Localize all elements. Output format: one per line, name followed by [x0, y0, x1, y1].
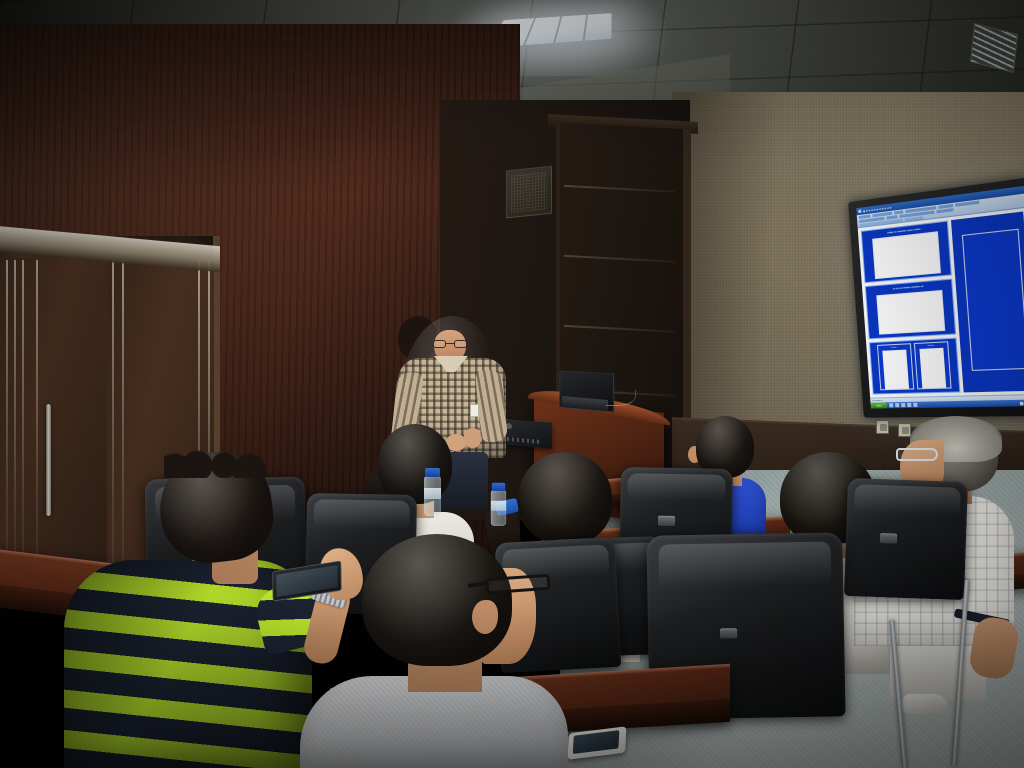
attendee-gray-tshirt: [300, 534, 570, 768]
chair-brand-tag: [720, 628, 737, 638]
display-panel-1-field[interactable]: [872, 232, 941, 279]
presenter-eyeglasses-icon: [433, 340, 467, 348]
display-screen[interactable]: ■ ▾ ▾ ▾ ▾ ▾ ▾ ▾ ▾ ▾ ▾: [856, 186, 1024, 409]
app-icon: [858, 210, 861, 213]
taskbar-icon[interactable]: [913, 403, 917, 407]
attendee-striped-hair: [164, 448, 268, 478]
presenter-name-badge: [470, 404, 479, 417]
display-panel-3[interactable]: ▪▪▪▪▪▪ ▪▪▪▪▪▪▪: [869, 337, 961, 394]
chair-back-right[interactable]: [844, 478, 968, 600]
display-panel-3-cell-left[interactable]: ▪▪▪▪▪▪: [877, 343, 914, 390]
display-panel-2-field[interactable]: [876, 290, 945, 335]
taskbar-icon[interactable]: [907, 403, 911, 407]
attendee-elder-eyeglasses-icon: [896, 448, 938, 461]
system-tray[interactable]: [1019, 401, 1024, 405]
display-panel-3-cell-right-label: ▪▪▪▪▪▪▪: [927, 344, 934, 347]
wall-speaker: [506, 166, 552, 219]
speaker-grille-icon: [511, 171, 547, 213]
taskbar-icon[interactable]: [901, 403, 905, 407]
tray-icon[interactable]: [1019, 401, 1023, 404]
water-bottle-right[interactable]: [491, 490, 506, 526]
app-content-area: ▪▪▪▪▪ ▪▪ ▪▪▪▪▪▪▪ ▪▪▪▪▪ ▪▪▪▪▪ ▪▪ ▪▪ ▪▪ ▪▪…: [858, 208, 1024, 398]
bottle-cap-icon: [492, 483, 506, 491]
attendee-elder-shoe: [902, 694, 948, 714]
detail-pane-inner: [962, 228, 1024, 371]
attendee-gray-tshirt-eyeglasses-icon: [486, 574, 551, 594]
display-panel-3-cell-right[interactable]: ▪▪▪▪▪▪▪: [913, 341, 951, 389]
display-panel-3-cell-left-bar: [883, 350, 909, 390]
attendee-striped: [72, 452, 322, 768]
display-panel-3-cell-left-label: ▪▪▪▪▪▪: [891, 346, 897, 349]
vertical-pull-handle[interactable]: [46, 404, 51, 516]
attendee-gray-tshirt-ear: [472, 600, 498, 634]
phone-screen: [573, 730, 620, 754]
panel-column-left: ▪▪▪▪▪ ▪▪ ▪▪▪▪▪▪▪ ▪▪▪▪▪ ▪▪▪▪▪ ▪▪ ▪▪ ▪▪ ▪▪…: [861, 221, 961, 395]
attendee-ponytail-right-head: [518, 452, 612, 544]
water-bottle-left[interactable]: [424, 476, 441, 516]
bottle-cap-icon: [425, 468, 440, 477]
display-panel-1[interactable]: ▪▪▪▪▪ ▪▪ ▪▪▪▪▪▪▪ ▪▪▪▪▪ ▪▪▪▪▪: [861, 221, 952, 284]
start-button[interactable]: start: [871, 402, 888, 408]
display-panel-2[interactable]: ▪▪ ▪▪ ▪▪ ▪▪▪▪▪▪ ▪▪▪▪▪▪▪ ▪▪: [865, 279, 957, 339]
display-panel-3-cell-right-bar: [919, 348, 946, 389]
taskbar-icon[interactable]: [889, 403, 893, 407]
wall-mounted-lcd-display[interactable]: ■ ▾ ▾ ▾ ▾ ▾ ▾ ▾ ▾ ▾ ▾: [848, 177, 1024, 417]
presenter-hair: [398, 316, 438, 360]
taskbar-icon[interactable]: [895, 403, 899, 407]
chair-brand-tag: [880, 533, 897, 544]
detail-pane[interactable]: [951, 212, 1024, 393]
conference-room-photo: ■ ▾ ▾ ▾ ▾ ▾ ▾ ▾ ▾ ▾ ▾: [0, 0, 1024, 768]
display-bezel: ■ ▾ ▾ ▾ ▾ ▾ ▾ ▾ ▾ ▾ ▾: [848, 177, 1024, 417]
chair-brand-tag: [658, 516, 675, 526]
